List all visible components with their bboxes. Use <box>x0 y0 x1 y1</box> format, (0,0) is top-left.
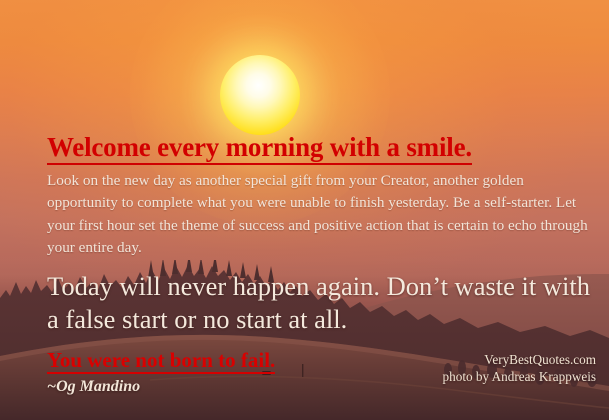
attribution: ~Og Mandino <box>47 378 140 396</box>
headline: Welcome every morning with a smile. <box>47 133 472 165</box>
watermark-site: VeryBestQuotes.com <box>443 352 596 369</box>
poster-text-content: Welcome every morning with a smile. Look… <box>0 0 609 420</box>
headline-text: Welcome every morning with a smile. <box>47 132 472 162</box>
quote-poster: Welcome every morning with a smile. Look… <box>0 0 609 420</box>
watermark-photo-credit: photo by Andreas Krappweis <box>443 369 596 386</box>
body-paragraph: Look on the new day as another special g… <box>47 170 592 259</box>
closing-line: You were not born to fail. <box>47 349 275 374</box>
watermark: VeryBestQuotes.com photo by Andreas Krap… <box>443 352 596 385</box>
closing-line-underline <box>47 372 275 374</box>
big-quote: Today will never happen again. Don’t was… <box>47 270 599 336</box>
headline-underline <box>47 163 472 165</box>
closing-line-text: You were not born to fail. <box>47 348 275 372</box>
